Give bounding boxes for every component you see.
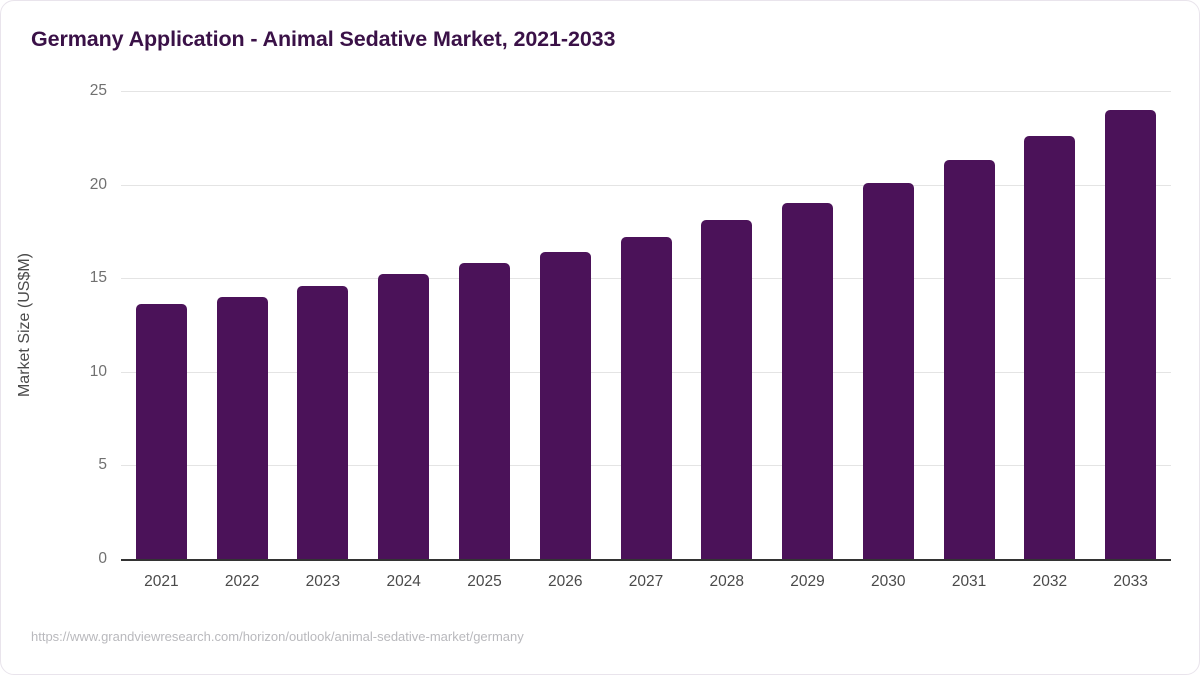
plot-area: 0510152025 20212022202320242025202620272… bbox=[121, 91, 1171, 559]
x-tick-label: 2026 bbox=[548, 573, 582, 591]
y-tick-label: 10 bbox=[90, 363, 107, 381]
bar[interactable] bbox=[1105, 110, 1156, 559]
x-tick-label: 2030 bbox=[871, 573, 905, 591]
bar[interactable] bbox=[459, 263, 510, 559]
axis-baseline bbox=[121, 559, 1171, 561]
bar[interactable] bbox=[701, 220, 752, 559]
x-tick-label: 2024 bbox=[386, 573, 420, 591]
x-tick-label: 2033 bbox=[1113, 573, 1147, 591]
chart-title: Germany Application - Animal Sedative Ma… bbox=[31, 27, 615, 52]
x-tick-label: 2025 bbox=[467, 573, 501, 591]
bar[interactable] bbox=[540, 252, 591, 559]
x-tick-label: 2022 bbox=[225, 573, 259, 591]
x-tick-label: 2021 bbox=[144, 573, 178, 591]
bar[interactable] bbox=[217, 297, 268, 559]
y-tick-label: 15 bbox=[90, 269, 107, 287]
bar[interactable] bbox=[136, 304, 187, 559]
y-tick-label: 20 bbox=[90, 176, 107, 194]
x-tick-label: 2029 bbox=[790, 573, 824, 591]
y-tick-label: 0 bbox=[98, 550, 107, 568]
source-url: https://www.grandviewresearch.com/horizo… bbox=[31, 629, 524, 644]
x-tick-label: 2027 bbox=[629, 573, 663, 591]
bar[interactable] bbox=[863, 183, 914, 559]
y-axis-title: Market Size (US$M) bbox=[16, 253, 34, 397]
bars-group bbox=[121, 91, 1171, 559]
bar[interactable] bbox=[1024, 136, 1075, 559]
y-tick-label: 5 bbox=[98, 456, 107, 474]
x-tick-label: 2028 bbox=[710, 573, 744, 591]
chart-figure: Germany Application - Animal Sedative Ma… bbox=[0, 0, 1200, 675]
bar[interactable] bbox=[621, 237, 672, 559]
x-tick-label: 2032 bbox=[1033, 573, 1067, 591]
bar[interactable] bbox=[944, 160, 995, 559]
bar[interactable] bbox=[782, 203, 833, 559]
y-tick-label: 25 bbox=[90, 82, 107, 100]
x-tick-label: 2023 bbox=[306, 573, 340, 591]
x-tick-label: 2031 bbox=[952, 573, 986, 591]
bar[interactable] bbox=[378, 274, 429, 559]
bar[interactable] bbox=[297, 286, 348, 559]
